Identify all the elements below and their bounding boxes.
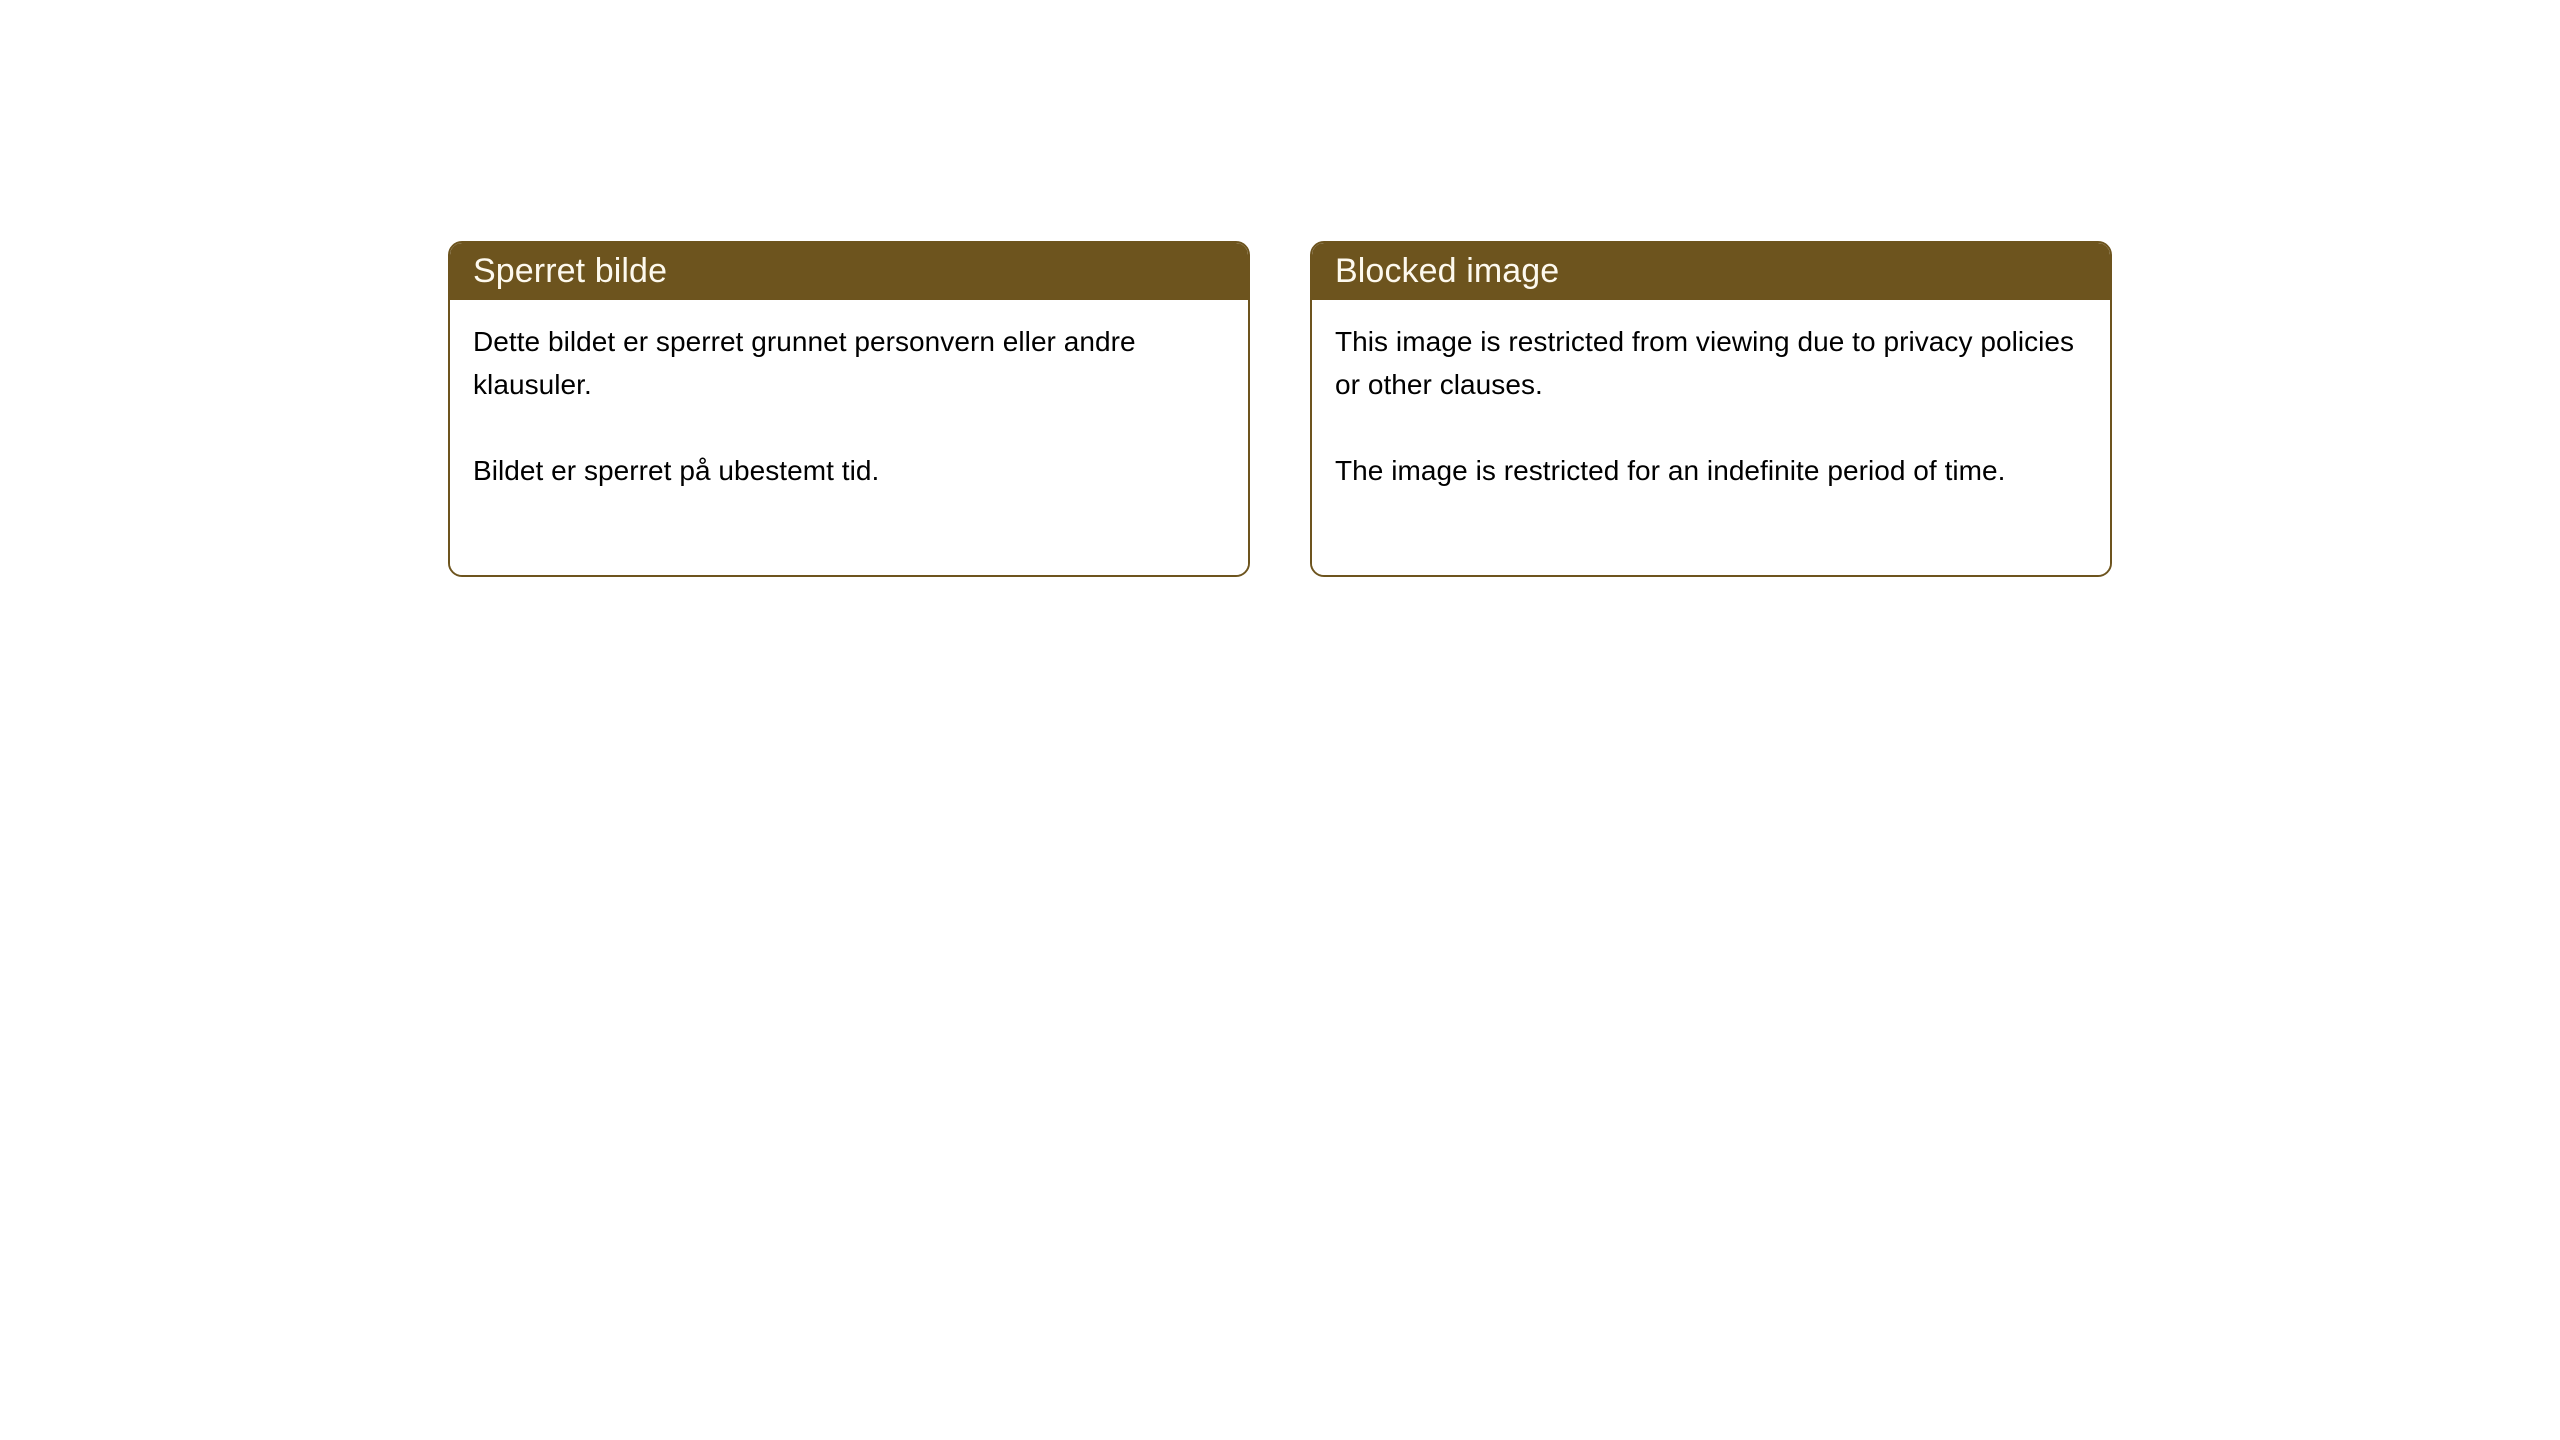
paragraph-spacer <box>473 406 1222 449</box>
card-header-english: Blocked image <box>1312 243 2110 300</box>
card-paragraph-secondary-norwegian: Bildet er sperret på ubestemt tid. <box>473 449 1222 492</box>
notice-cards-row: Sperret bilde Dette bildet er sperret gr… <box>448 241 2112 577</box>
card-title-norwegian: Sperret bilde <box>473 254 667 290</box>
card-body-norwegian: Dette bildet er sperret grunnet personve… <box>450 300 1248 575</box>
blocked-image-notice-card-norwegian: Sperret bilde Dette bildet er sperret gr… <box>448 241 1250 577</box>
card-body-english: This image is restricted from viewing du… <box>1312 300 2110 575</box>
card-title-english: Blocked image <box>1335 254 1559 290</box>
paragraph-spacer <box>1335 406 2084 449</box>
blocked-image-notice-card-english: Blocked image This image is restricted f… <box>1310 241 2112 577</box>
page-canvas: Sperret bilde Dette bildet er sperret gr… <box>0 0 2560 1440</box>
card-paragraph-primary-norwegian: Dette bildet er sperret grunnet personve… <box>473 320 1222 406</box>
card-paragraph-secondary-english: The image is restricted for an indefinit… <box>1335 449 2084 492</box>
card-paragraph-primary-english: This image is restricted from viewing du… <box>1335 320 2084 406</box>
card-header-norwegian: Sperret bilde <box>450 243 1248 300</box>
